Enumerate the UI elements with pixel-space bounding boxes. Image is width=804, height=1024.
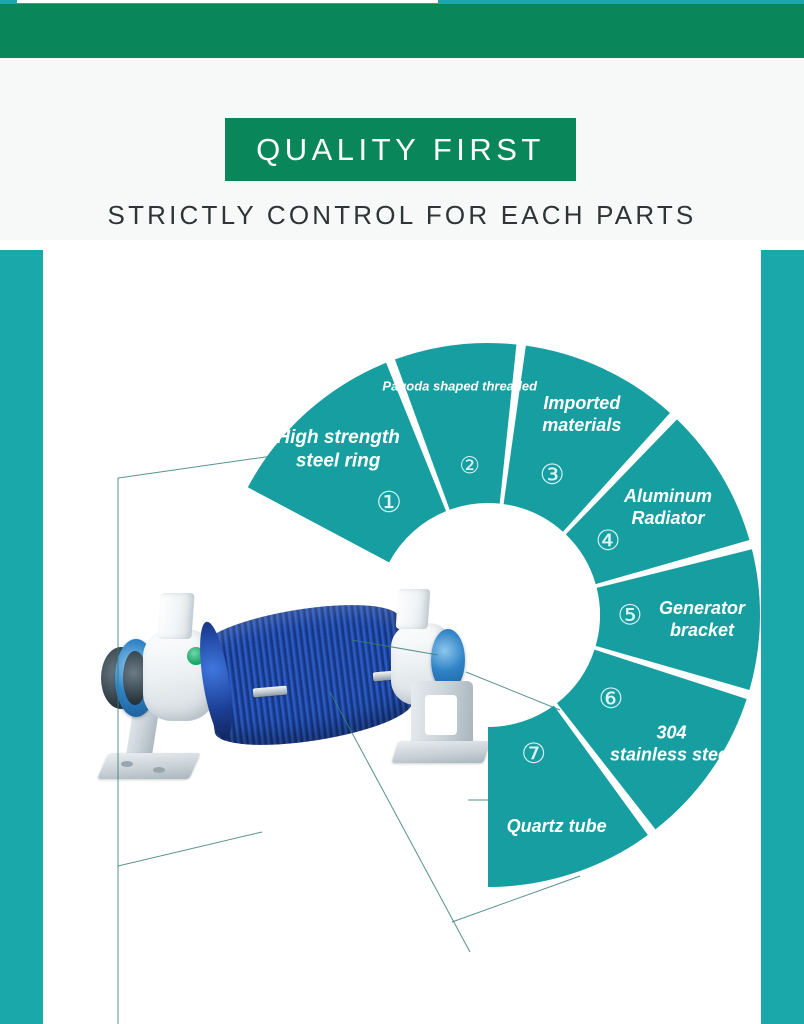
segment-label: AluminumRadiator (623, 486, 712, 528)
segment-label: Importedmaterials (542, 393, 621, 435)
page-title: QUALITY FIRST (256, 132, 545, 168)
segment-number: ③ (540, 458, 565, 491)
parts-fan-diagram: ①High strengthsteel ring②Pagoda shaped t… (0, 240, 804, 1024)
segment-number: ⑦ (521, 737, 546, 770)
leader-line (118, 452, 300, 866)
segment-number: ④ (595, 524, 620, 557)
leader-line (330, 692, 470, 952)
top-accent-gap (17, 0, 438, 3)
leader-line (118, 866, 300, 1024)
segment-label: Generatorbracket (659, 598, 746, 640)
segment-number: ① (376, 485, 402, 519)
segment-label: Quartz tube (507, 816, 607, 836)
page-subtitle: STRICTLY CONTROL FOR EACH PARTS (0, 200, 804, 231)
leader-line (466, 672, 560, 710)
segment-number: ⑤ (617, 598, 642, 631)
segment-label: Pagoda shaped threaded (382, 379, 538, 394)
header-area: QUALITY FIRST STRICTLY CONTROL FOR EACH … (0, 58, 804, 240)
leader-line (352, 640, 438, 655)
segment-number: ⑥ (598, 682, 623, 715)
title-plate: QUALITY FIRST (225, 118, 576, 181)
page-root: QUALITY FIRST STRICTLY CONTROL FOR EACH … (0, 0, 804, 1024)
green-header-band (0, 4, 804, 58)
segment-number: ② (459, 453, 480, 479)
